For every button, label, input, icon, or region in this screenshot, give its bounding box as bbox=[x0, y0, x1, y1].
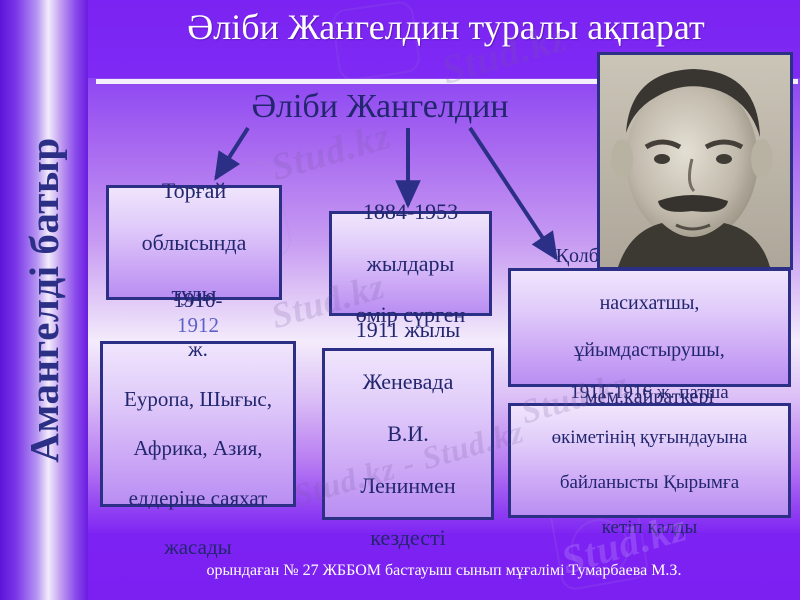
travel-line-4: елдеріне саяхат bbox=[120, 486, 276, 511]
info-box-crimea-exile: 1911-1916 ж. патша өкіметінің қуғындауын… bbox=[508, 403, 791, 518]
info-box-travels: 1910-1912ж. Еуропа, Шығыс, Африка, Азия,… bbox=[100, 341, 296, 507]
info-box-birthplace: Торғай облысында туды bbox=[106, 185, 282, 300]
travel-line-5: жасады bbox=[120, 535, 276, 560]
travel-line-1-b: 1912 bbox=[120, 313, 276, 338]
lenin-line-4: Ленинмен bbox=[352, 473, 464, 499]
portrait-photo bbox=[597, 52, 793, 270]
sidebar-band: Амангелді батыр bbox=[0, 0, 88, 600]
crimea-line-1: 1911-1916 ж. патша bbox=[548, 382, 752, 404]
birth-line-2: облысында bbox=[138, 230, 251, 256]
slide-footer: орындаған № 27 ЖББОМ бастауыш сынып мұға… bbox=[88, 562, 800, 580]
crimea-line-3: байланысты Қырымға bbox=[548, 472, 752, 494]
crimea-line-2: өкіметінің қуғындауына bbox=[548, 427, 752, 449]
lenin-line-3: В.И. bbox=[352, 421, 464, 447]
sidebar-title: Амангелді батыр bbox=[20, 137, 68, 462]
info-box-roles: Қолбасшы, саяхатшы, насихатшы, ұйымдасты… bbox=[508, 268, 791, 387]
life-line-1: 1884-1953 bbox=[352, 199, 470, 225]
lenin-line-1: 1911 жылы bbox=[352, 317, 464, 343]
info-box-lifespan: 1884-1953 жылдары өмір сүрген bbox=[329, 211, 492, 316]
lenin-line-5: кездесті bbox=[352, 525, 464, 551]
travel-line-3: Африка, Азия, bbox=[120, 436, 276, 461]
crimea-line-4: кетіп қалды bbox=[548, 517, 752, 539]
presentation-slide: Stud.kz Stud.kz Stud.kz Stud.kz Stud.kz … bbox=[0, 0, 800, 600]
info-box-lenin-meeting: 1911 жылы Женевада В.И. Ленинмен кездест… bbox=[322, 348, 494, 520]
main-heading: Әліби Жангелдин bbox=[150, 88, 610, 126]
travel-line-1-a: 1910- bbox=[120, 288, 276, 313]
life-line-2: жылдары bbox=[352, 251, 470, 277]
travel-line-2: Еуропа, Шығыс, bbox=[120, 387, 276, 412]
travel-line-1-c: ж. bbox=[120, 337, 276, 362]
slide-title: Әліби Жангелдин туралы ақпарат bbox=[96, 6, 796, 48]
lenin-line-2: Женевада bbox=[352, 369, 464, 395]
roles-line-3: ұйымдастырушы, bbox=[552, 339, 748, 363]
roles-line-2: насихатшы, bbox=[552, 292, 748, 316]
birth-line-1: Торғай bbox=[138, 178, 251, 204]
